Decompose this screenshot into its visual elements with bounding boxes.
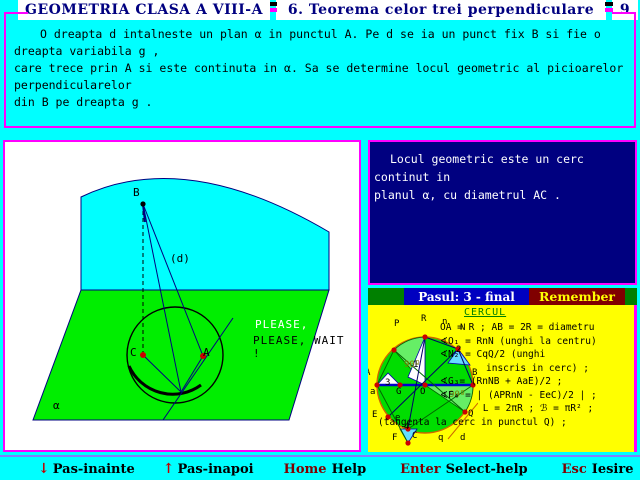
toolbar-key-home: Home	[284, 462, 327, 477]
formula-7: (tangenta la cerc in punctul Q) ;	[378, 416, 636, 430]
diagram-label-b: B	[133, 186, 140, 199]
statement-line-2: care trece prin A si este continuta in α…	[14, 60, 626, 94]
formula-3: inscris in cerc) ;	[440, 362, 636, 376]
ref-label-c: C	[412, 431, 417, 441]
step-spacer-left	[368, 288, 404, 305]
toolbar-label-select-help: Select-help	[446, 462, 528, 477]
ref-label-q-small: q	[438, 433, 443, 443]
lesson-title: 6. Teorema celor trei perpendiculare	[276, 0, 606, 20]
diagram-label-a: A	[203, 346, 210, 359]
formula-1: ∢O₁ = RnN (unghi la centru)	[440, 335, 636, 349]
remember-panel: CERCUL	[368, 305, 637, 452]
geometry-diagram-panel: B (d) C A α PLEASE, PLEASE, WAIT !	[3, 140, 361, 452]
app-root: GEOMETRIA CLASA A VIII-A 6. Teorema celo…	[0, 0, 640, 480]
frame-top-right	[612, 12, 636, 14]
please-wait-text: PLEASE, WAIT !	[253, 334, 359, 360]
please-wait-ghost: PLEASE,	[255, 318, 308, 331]
toolbar-item-help[interactable]: Home Help	[284, 462, 367, 477]
statement-line-1: O dreapta d intalneste un plan α in punc…	[14, 26, 626, 60]
answer-line-1: Locul geometric este un cerc continut in	[374, 150, 631, 186]
ref-label-ang3: 3	[385, 378, 390, 388]
ref-label-d-small: d	[460, 433, 465, 443]
bottom-toolbar: ↓ Pas-inainte ↑ Pas-inapoi Home Help Ent…	[0, 458, 640, 480]
step-spacer-right	[625, 288, 637, 305]
right-column: Locul geometric este un cerc continut in…	[368, 140, 637, 452]
title-bar: GEOMETRIA CLASA A VIII-A 6. Teorema celo…	[0, 0, 640, 20]
problem-statement: O dreapta d intalneste un plan α in punc…	[8, 22, 632, 126]
tick-decor-a	[270, 2, 277, 6]
step-value: 3 - final	[463, 290, 514, 304]
toolbar-label-help: Help	[332, 462, 367, 477]
formula-6: L = 2πR ; ℬ = πR² ;	[440, 402, 636, 416]
frame-top-left	[4, 12, 28, 14]
formula-5: ∢F₄ = | (APRnN - EeC)/2 | ;	[440, 389, 636, 403]
toolbar-item-pas-inapoi[interactable]: ↑ Pas-inapoi	[163, 461, 254, 477]
bottom-separator	[0, 455, 640, 457]
diagram-label-d: (d)	[170, 252, 190, 265]
answer-box: Locul geometric este un cerc continut in…	[368, 140, 637, 285]
toolbar-item-pas-inainte[interactable]: ↓ Pas-inainte	[38, 461, 135, 477]
plane-upper-shape	[81, 178, 329, 290]
formula-4: ∢G₃= (RnNB + AaE)/2 ;	[440, 375, 636, 389]
toolbar-item-iesire[interactable]: Esc Iesire	[562, 462, 634, 477]
arrow-down-icon: ↓	[38, 461, 50, 477]
ref-label-a: A	[368, 368, 370, 378]
frame-right	[634, 12, 636, 128]
tick-decor-b	[270, 8, 277, 12]
formula-0: OA = R ; AB = 2R = diametru	[440, 321, 636, 335]
remember-badge[interactable]: Remember	[529, 288, 625, 305]
toolbar-label-pas-inainte: Pas-inainte	[53, 462, 135, 477]
ref-label-a-small: a	[370, 387, 375, 397]
ref-label-ang1: 1	[413, 360, 418, 370]
answer-line-2: planul α, cu diametrul AC .	[374, 186, 631, 204]
arrow-up-icon: ↑	[163, 461, 175, 477]
ref-label-o: O	[420, 387, 425, 397]
step-indicator: Pasul: 3 - final	[404, 288, 529, 305]
ref-label-g: G	[396, 387, 401, 397]
statement-line-3: din B pe dreapta g .	[14, 94, 626, 111]
course-title: GEOMETRIA CLASA A VIII-A	[18, 0, 270, 20]
toolbar-key-enter: Enter	[400, 462, 441, 477]
diagram-label-alpha: α	[53, 399, 60, 412]
toolbar-label-iesire: Iesire	[592, 462, 634, 477]
toolbar-item-select-help[interactable]: Enter Select-help	[400, 462, 527, 477]
formula-2: ∢N₂ = CqQ/2 (unghi	[440, 348, 636, 362]
toolbar-label-pas-inapoi: Pas-inapoi	[178, 462, 254, 477]
ref-label-r: R	[421, 314, 426, 324]
step-label: Pasul:	[418, 290, 459, 304]
remember-panel-edge	[634, 305, 637, 452]
frame-left	[4, 12, 6, 128]
toolbar-key-esc: Esc	[562, 462, 587, 477]
point-c	[140, 352, 146, 358]
point-b	[140, 201, 145, 206]
ref-label-e: E	[372, 410, 377, 420]
ref-label-f: F	[392, 433, 397, 443]
diagram-label-c: C	[130, 346, 137, 359]
frame-bottom	[4, 126, 636, 128]
ref-label-p: P	[394, 319, 399, 329]
tick-decor-c	[605, 2, 613, 6]
step-status-row: Pasul: 3 - final Remember	[368, 288, 637, 305]
formula-list: OA = R ; AB = 2R = diametru ∢O₁ = RnN (u…	[440, 321, 636, 429]
